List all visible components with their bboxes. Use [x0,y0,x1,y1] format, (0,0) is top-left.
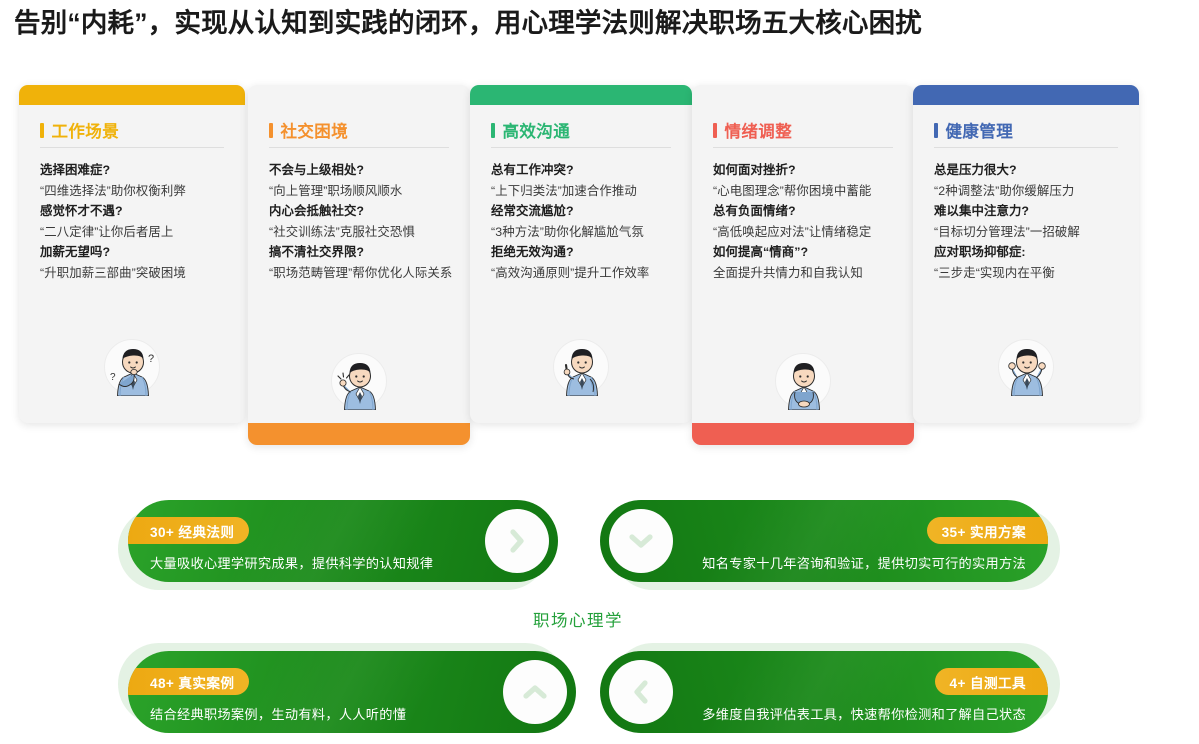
card-item-answer: “社交训练法”克服社交恐惧 [269,222,457,243]
card-title-label: 健康管理 [946,118,1014,142]
svg-text:?: ? [110,372,116,383]
page-title: 告别“内耗”，实现从认知到实践的闭环，用心理学法则解决职场五大核心困扰 [14,4,1189,42]
cheering-person-icon [998,339,1054,395]
pill-description: 多维度自我评估表工具，快速帮你检测和了解自己状态 [702,704,1026,723]
card-title: 高效沟通 [491,118,570,142]
card-item-answer: 全面提升共情力和自我认知 [713,263,901,284]
card-title-label: 情绪调整 [725,118,793,142]
pill-description: 大量吸收心理学研究成果，提供科学的认知规律 [150,553,433,572]
card-work-scene[interactable]: 工作场景选择困难症?“四维选择法”助你权衡利弊感觉怀才不遇?“二八定律”让你后者… [19,85,245,423]
pill-badge-label: 48+ 真实案例 [150,672,234,692]
card-divider [934,147,1118,148]
chevron-down-icon[interactable] [609,509,673,573]
card-title: 工作场景 [40,118,119,142]
card-divider [713,147,893,148]
card-item-question: 搞不清社交界限? [269,242,457,263]
pill-badge-label: 4+ 自测工具 [950,672,1026,692]
highlight-pill-classic-rules[interactable]: 30+ 经典法则大量吸收心理学研究成果，提供科学的认知规律 [128,500,558,582]
infographic-root: 告别“内耗”，实现从认知到实践的闭环，用心理学法则解决职场五大核心困扰 工作场景… [0,0,1199,744]
card-item-answer: “升职加薪三部曲”突破困境 [40,263,232,284]
pill-description: 结合经典职场案例，生动有料，人人听的懂 [150,704,406,723]
card-title: 健康管理 [934,118,1013,142]
card-item-answer: “高效沟通原则”提升工作效率 [491,263,679,284]
title-tick-icon [713,123,717,138]
card-item-answer: “向上管理”职场顺风顺水 [269,181,457,202]
card-accent-bar [692,423,914,445]
card-emotion-adjustment[interactable]: 情绪调整如何面对挫折?“心电图理念”帮你困境中蓄能总有负面情绪?“高低唤起应对法… [692,85,914,445]
thinking-person-icon: ? ? [104,339,160,395]
card-divider [491,147,671,148]
pill-badge-label: 35+ 实用方案 [942,521,1026,541]
card-item-question: 应对职场抑郁症: [934,242,1126,263]
pill-badge: 4+ 自测工具 [935,668,1048,695]
card-accent-bar [470,85,692,105]
card-divider [269,147,449,148]
card-accent-bar [248,423,470,445]
card-body: 总是压力很大?“2种调整法”助你缓解压力难以集中注意力?“目标切分管理法”一招破… [934,160,1126,284]
card-body: 如何面对挫折?“心电图理念”帮你困境中蓄能总有负面情绪?“高低唤起应对法”让情绪… [713,160,901,284]
chevron-right-icon[interactable] [485,509,549,573]
card-item-question: 拒绝无效沟通? [491,242,679,263]
card-title: 情绪调整 [713,118,792,142]
card-item-answer: “心电图理念”帮你困境中蓄能 [713,181,901,202]
pointing-person-icon [553,339,609,395]
card-item-question: 总有负面情绪? [713,201,901,222]
pill-badge: 35+ 实用方案 [927,517,1048,544]
card-item-answer: “二八定律”让你后者居上 [40,222,232,243]
card-efficient-communication[interactable]: 高效沟通总有工作冲突?“上下归类法”加速合作推动经常交流尴尬?“3种方法”助你化… [470,85,692,423]
card-health-management[interactable]: 健康管理总是压力很大?“2种调整法”助你缓解压力难以集中注意力?“目标切分管理法… [913,85,1139,423]
highlight-pill-practical-plans[interactable]: 35+ 实用方案知名专家十几年咨询和验证，提供切实可行的实用方法 [600,500,1048,582]
card-title: 社交困境 [269,118,348,142]
card-item-answer: “高低唤起应对法”让情绪稳定 [713,222,901,243]
svg-text:?: ? [148,353,154,365]
card-divider [40,147,224,148]
pill-badge: 48+ 真实案例 [128,668,249,695]
card-item-question: 难以集中注意力? [934,201,1126,222]
title-tick-icon [491,123,495,138]
card-item-answer: “目标切分管理法”一招破解 [934,222,1126,243]
card-item-question: 加薪无望吗? [40,242,232,263]
card-title-label: 社交困境 [281,118,349,142]
card-item-answer: “3种方法”助你化解尴尬气氛 [491,222,679,243]
card-item-answer: “职场范畴管理”帮你优化人际关系 [269,263,457,284]
card-body: 选择困难症?“四维选择法”助你权衡利弊感觉怀才不遇?“二八定律”让你后者居上加薪… [40,160,232,284]
card-item-question: 选择困难症? [40,160,232,181]
chevron-left-icon[interactable] [609,660,673,724]
card-item-question: 经常交流尴尬? [491,201,679,222]
card-title-label: 高效沟通 [503,118,571,142]
card-accent-bar [19,85,245,105]
card-item-question: 感觉怀才不遇? [40,201,232,222]
card-item-answer: “2种调整法”助你缓解压力 [934,181,1126,202]
highlight-pill-self-test-tools[interactable]: 4+ 自测工具多维度自我评估表工具，快速帮你检测和了解自己状态 [600,651,1048,733]
card-accent-bar [913,85,1139,105]
card-item-question: 如何提高“情商”? [713,242,901,263]
card-item-answer: “四维选择法”助你权衡利弊 [40,181,232,202]
waving-person-icon [331,353,387,409]
highlight-pill-real-cases[interactable]: 48+ 真实案例结合经典职场案例，生动有料，人人听的懂 [128,651,576,733]
calm-person-icon [775,353,831,409]
card-item-question: 总有工作冲突? [491,160,679,181]
card-body: 不会与上级相处?“向上管理”职场顺风顺水内心会抵触社交?“社交训练法”克服社交恐… [269,160,457,284]
title-tick-icon [934,123,938,138]
card-item-question: 如何面对挫折? [713,160,901,181]
hub-center-label: 职场心理学 [533,607,623,631]
card-item-question: 内心会抵触社交? [269,201,457,222]
card-item-answer: “上下归类法”加速合作推动 [491,181,679,202]
title-tick-icon [40,123,44,138]
card-social-dilemma[interactable]: 社交困境不会与上级相处?“向上管理”职场顺风顺水内心会抵触社交?“社交训练法”克… [248,85,470,445]
pill-badge-label: 30+ 经典法则 [150,521,234,541]
pill-description: 知名专家十几年咨询和验证，提供切实可行的实用方法 [702,553,1026,572]
card-item-question: 总是压力很大? [934,160,1126,181]
chevron-up-icon[interactable] [503,660,567,724]
pill-badge: 30+ 经典法则 [128,517,249,544]
title-tick-icon [269,123,273,138]
card-title-label: 工作场景 [52,118,120,142]
card-item-answer: “三步走“实现内在平衡 [934,263,1126,284]
card-body: 总有工作冲突?“上下归类法”加速合作推动经常交流尴尬?“3种方法”助你化解尴尬气… [491,160,679,284]
card-item-question: 不会与上级相处? [269,160,457,181]
